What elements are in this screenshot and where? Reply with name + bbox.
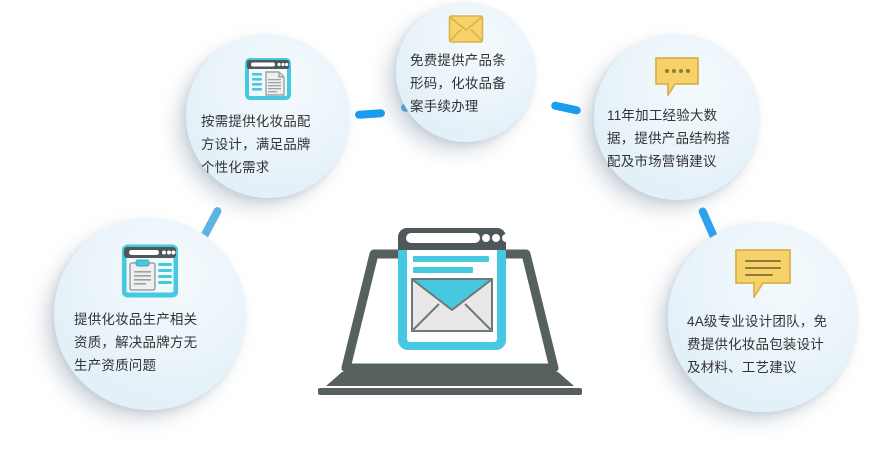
browser-clipboard-icon	[122, 244, 178, 298]
node-barcode-filing[interactable]: 免费提供产品条 形码，化妆品备 案手续办理	[396, 2, 536, 142]
node-production-license[interactable]: 提供化妆品生产相关 资质，解决品牌方无 生产资质问题	[54, 218, 246, 410]
node-formula-label: 按需提供化妆品配 方设计，满足品牌 个性化需求	[201, 110, 335, 180]
node-barcode-label: 免费提供产品条 形码，化妆品备 案手续办理	[410, 49, 522, 119]
node-design-label: 4A级专业设计团队，免 费提供化妆品包装设计 及材料、工艺建议	[687, 310, 839, 380]
speech-bubble-dots-icon	[654, 56, 700, 98]
envelope-icon	[448, 14, 484, 44]
node-formula-design[interactable]: 按需提供化妆品配 方设计，满足品牌 个性化需求	[186, 34, 350, 198]
infographic-canvas: 按需提供化妆品配 方设计，满足品牌 个性化需求 免费提供产品条 形码，化妆品备 …	[0, 0, 877, 466]
node-package-design[interactable]: 4A级专业设计团队，免 费提供化妆品包装设计 及材料、工艺建议	[668, 222, 858, 412]
node-license-label: 提供化妆品生产相关 资质，解决品牌方无 生产资质问题	[74, 308, 226, 378]
connector-formula-to-barcode	[355, 109, 385, 119]
connector-barcode-to-experience	[550, 101, 581, 115]
speech-bubble-lines-icon	[734, 248, 792, 300]
browser-document-icon	[245, 56, 291, 102]
laptop-email-illustration	[318, 222, 582, 402]
node-experience-label: 11年加工经验大数 据，提供产品结构搭 配及市场营销建议	[607, 104, 747, 174]
node-experience-data[interactable]: 11年加工经验大数 据，提供产品结构搭 配及市场营销建议	[594, 34, 760, 200]
